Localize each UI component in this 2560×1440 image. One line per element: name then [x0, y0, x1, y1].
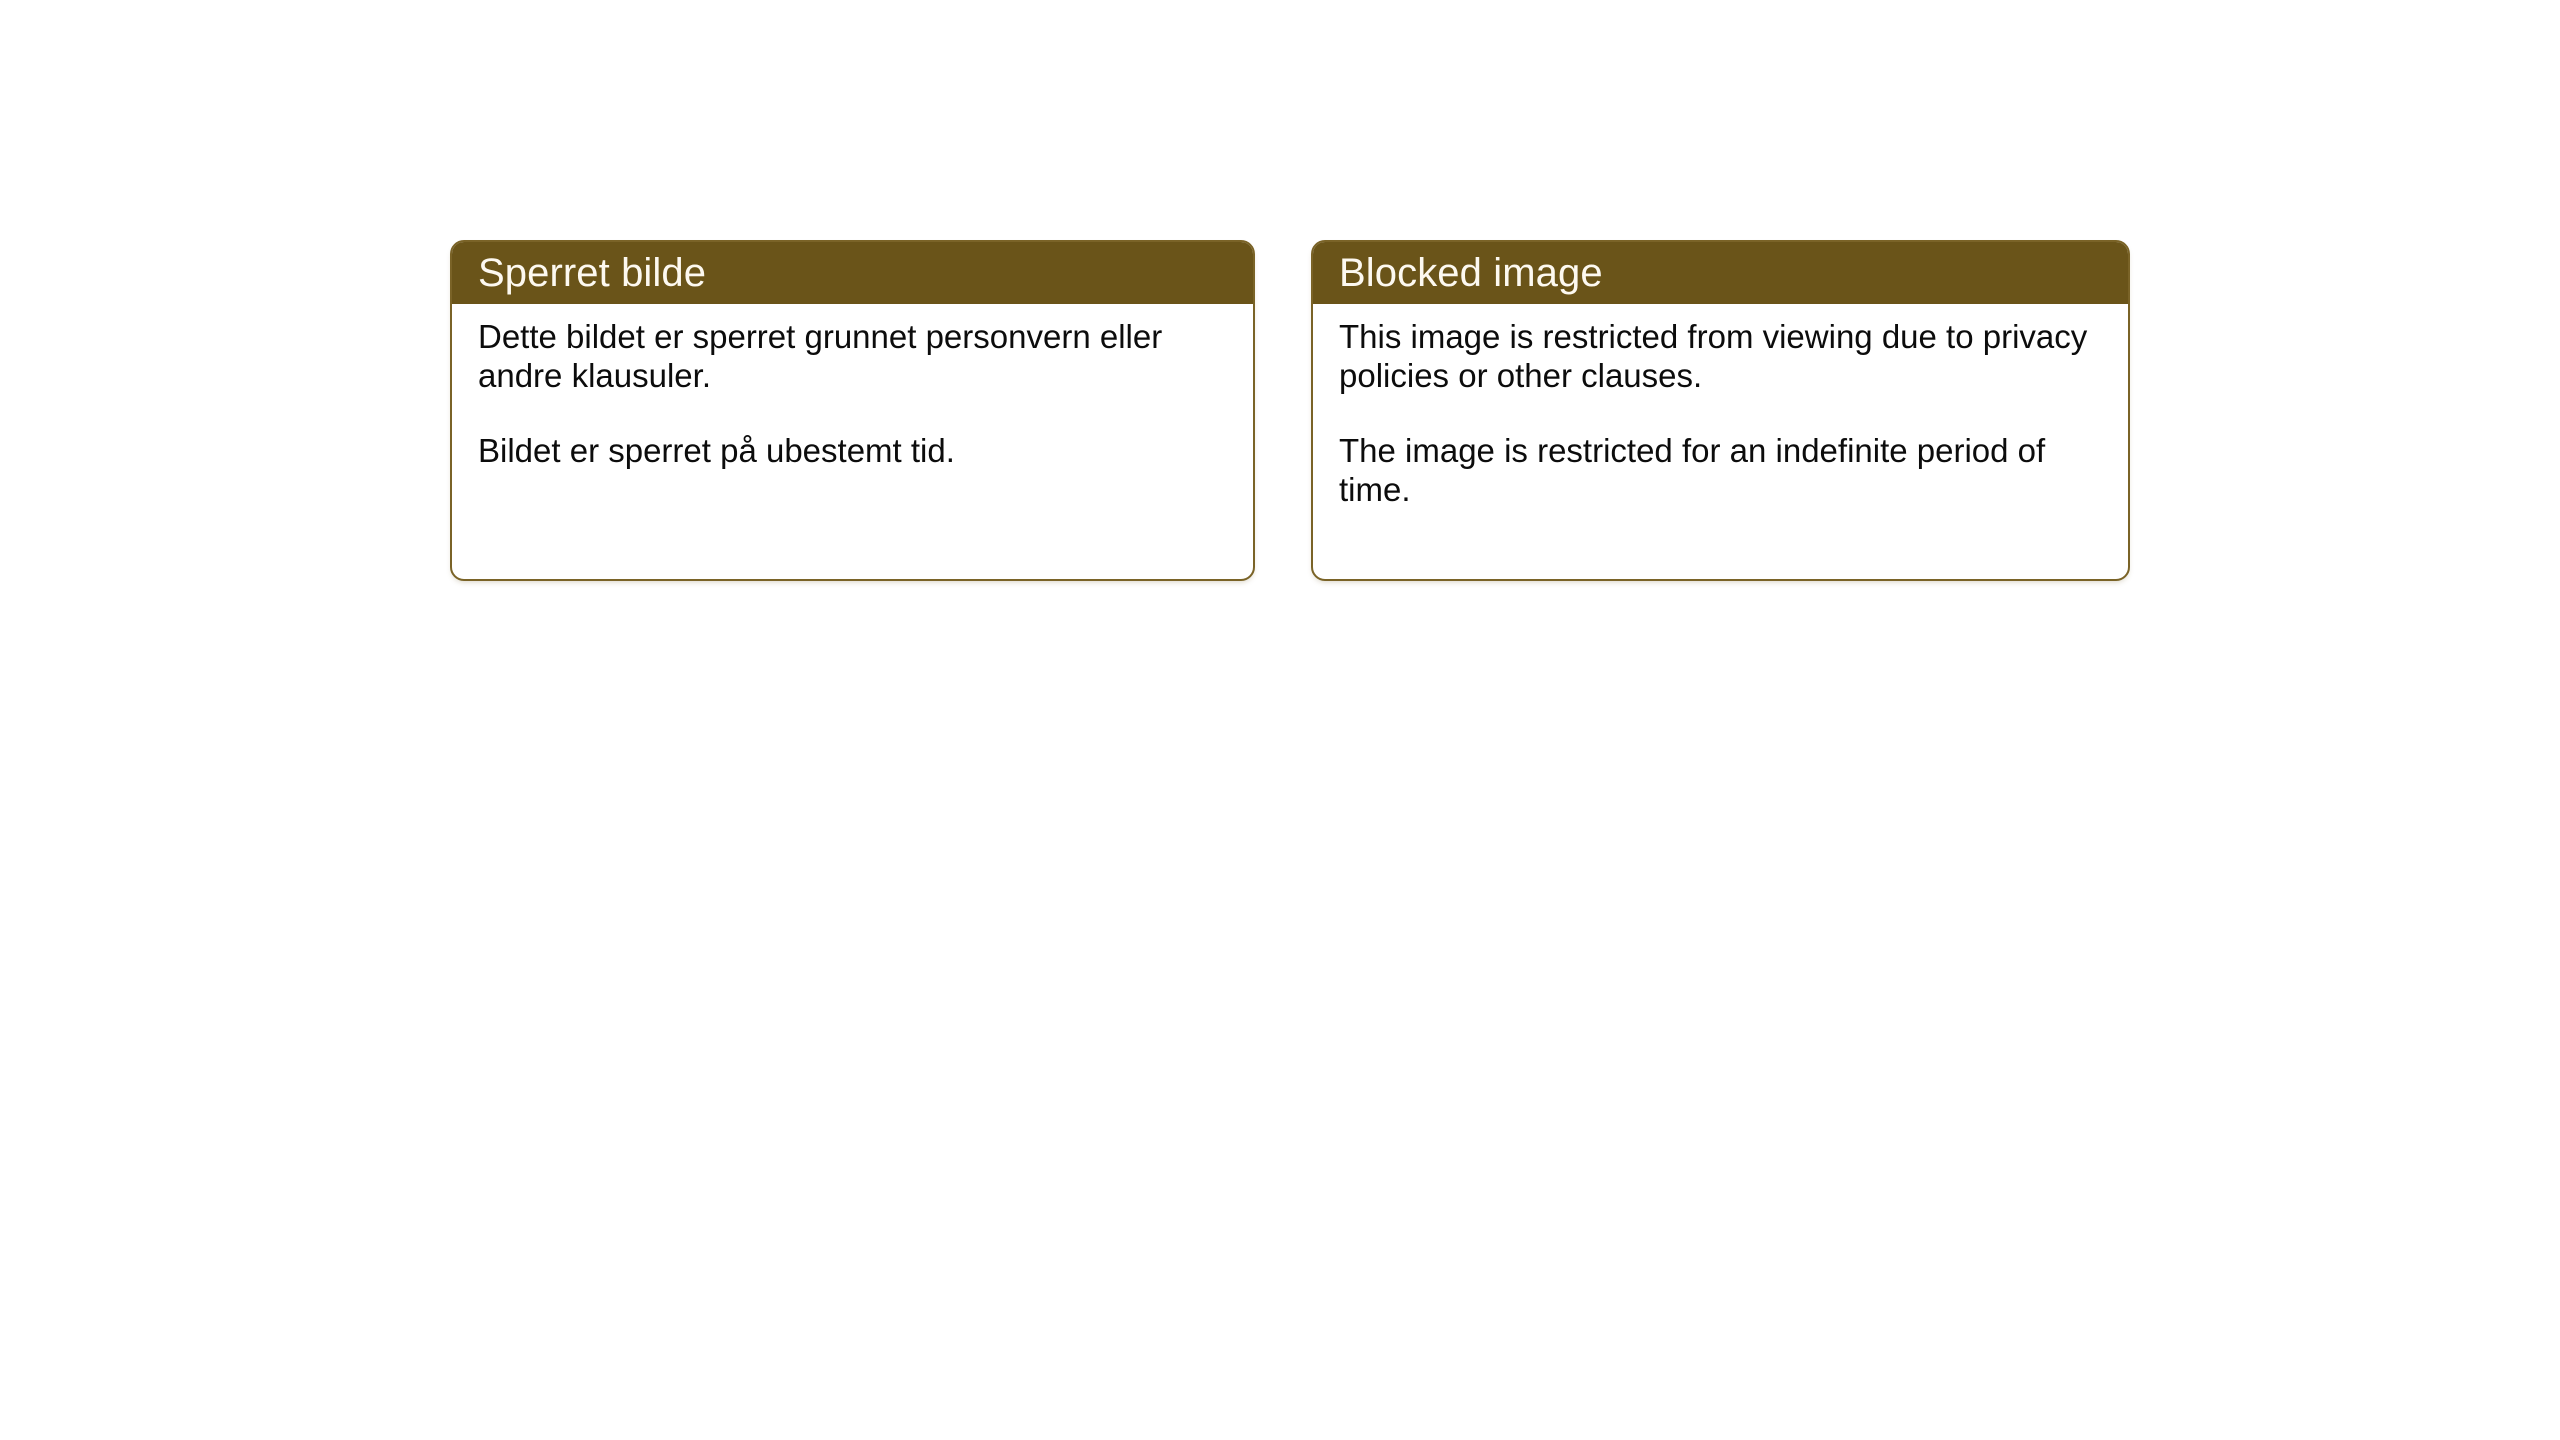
restriction-reason-text-norwegian: Dette bildet er sperret grunnet personve…: [478, 318, 1227, 396]
card-title-norwegian: Sperret bilde: [478, 253, 706, 293]
card-body-norwegian: Dette bildet er sperret grunnet personve…: [452, 304, 1253, 491]
restriction-reason-text-english: This image is restricted from viewing du…: [1339, 318, 2102, 396]
restriction-duration-text-english: The image is restricted for an indefinit…: [1339, 432, 2102, 510]
blocked-image-card-norwegian: Sperret bilde Dette bildet er sperret gr…: [450, 240, 1255, 581]
restriction-duration-text-norwegian: Bildet er sperret på ubestemt tid.: [478, 432, 1227, 471]
card-title-english: Blocked image: [1339, 253, 1603, 293]
card-header-norwegian: Sperret bilde: [452, 242, 1253, 304]
card-body-english: This image is restricted from viewing du…: [1313, 304, 2128, 530]
card-header-english: Blocked image: [1313, 242, 2128, 304]
page-canvas: Sperret bilde Dette bildet er sperret gr…: [0, 0, 2560, 1440]
blocked-image-card-english: Blocked image This image is restricted f…: [1311, 240, 2130, 581]
